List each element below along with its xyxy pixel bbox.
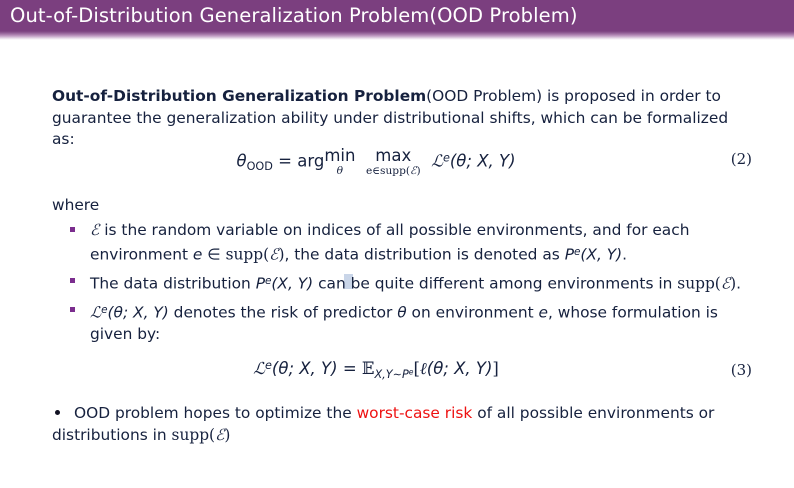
equation-number-2: (2) bbox=[731, 150, 752, 168]
bullet-text: The data distribution bbox=[90, 274, 256, 292]
intro-bold-term: Out-of-Distribution Generalization Probl… bbox=[52, 87, 426, 105]
ell-symbol: ℓ bbox=[420, 359, 427, 378]
theta-symbol: θ bbox=[397, 304, 406, 322]
loss-symbol: ℒ bbox=[90, 304, 101, 322]
p-symbol: P bbox=[565, 245, 574, 263]
bullet-period: . bbox=[622, 245, 627, 263]
final-bullet-prefix: OOD problem hopes to optimize the bbox=[74, 404, 357, 422]
p-symbol: P bbox=[256, 274, 265, 292]
text-cursor-highlight bbox=[344, 274, 353, 289]
page-title: Out-of-Distribution Generalization Probl… bbox=[10, 3, 578, 29]
min-operator: min bbox=[324, 148, 355, 165]
max-limit: e∈supp(ℰ) bbox=[366, 166, 421, 177]
where-label: where bbox=[52, 195, 99, 217]
script-e-symbol: ℰ bbox=[215, 426, 224, 444]
theta-subscript: OOD bbox=[247, 160, 273, 173]
supp-open: supp( bbox=[677, 274, 721, 292]
loss-superscript: e bbox=[443, 152, 450, 165]
arg-operator: arg bbox=[297, 152, 324, 171]
supp-close: ) bbox=[224, 426, 230, 444]
expectation-symbol: 𝔼 bbox=[362, 359, 375, 378]
equation-risk-body: ℒe(θ; X, Y) = 𝔼X,Y∼Pe[ℓ(θ; X, Y)] bbox=[52, 359, 700, 381]
bullet-text-cont: can be quite different among environment… bbox=[313, 274, 677, 292]
equals-sign: = bbox=[343, 359, 357, 378]
p-arguments: (X, Y) bbox=[580, 245, 622, 263]
title-bar-gradient-fade bbox=[0, 31, 794, 40]
bullet-text: denotes the risk of predictor bbox=[169, 304, 397, 322]
equation-ood-body: θOOD = argminθ maxe∈supp(ℰ) ℒe(θ; X, Y) bbox=[52, 148, 700, 176]
script-e-symbol: ℰ bbox=[721, 274, 730, 292]
max-operator: max bbox=[366, 148, 421, 165]
min-limit: θ bbox=[324, 166, 355, 177]
worst-case-risk-highlight: worst-case risk bbox=[357, 404, 473, 422]
max-limit-prefix: e∈supp( bbox=[366, 165, 410, 177]
bullet-text-cont: on environment bbox=[407, 304, 539, 322]
bullet-list: ℰ is the random variable on indices of a… bbox=[68, 220, 758, 346]
list-item: ℒe(θ; X, Y) denotes the risk of predicto… bbox=[68, 300, 758, 346]
bracket-close: ] bbox=[492, 359, 498, 378]
intro-paragraph: Out-of-Distribution Generalization Probl… bbox=[52, 86, 742, 151]
theta-symbol: θ bbox=[236, 152, 246, 171]
list-item: The data distribution Pe(X, Y) can be qu… bbox=[68, 271, 758, 295]
bullet-square-icon bbox=[70, 307, 75, 312]
element-of-sign: ∈ bbox=[202, 245, 225, 263]
loss-arguments: (θ; X, Y) bbox=[108, 304, 169, 322]
p-arguments: (X, Y) bbox=[271, 274, 313, 292]
expectation-subscript: X,Y∼Pe bbox=[374, 368, 413, 381]
script-e-symbol: ℰ bbox=[90, 221, 99, 239]
loss-symbol: ℒ bbox=[431, 152, 443, 171]
equation-risk-row: ℒe(θ; X, Y) = 𝔼X,Y∼Pe[ℓ(θ; X, Y)] (3) bbox=[52, 359, 752, 397]
slide-content: Out-of-Distribution Generalization Probl… bbox=[0, 44, 794, 488]
loss-symbol: ℒ bbox=[253, 359, 265, 378]
equation-number-3: (3) bbox=[731, 361, 752, 379]
bullet-text-cont: , the data distribution is denoted as bbox=[284, 245, 564, 263]
list-item: ℰ is the random variable on indices of a… bbox=[68, 220, 758, 266]
p-symbol: P bbox=[402, 368, 409, 381]
loss-arguments: (θ; X, Y) bbox=[450, 152, 516, 171]
bullet-square-icon bbox=[70, 278, 75, 283]
min-operator-with-limit: minθ bbox=[324, 148, 355, 176]
e-variable: e bbox=[539, 304, 548, 322]
e-variable: e bbox=[193, 245, 202, 263]
supp-open: supp( bbox=[226, 245, 270, 263]
distributed-as-sign: ∼ bbox=[393, 368, 402, 381]
equation-ood-row: θOOD = argminθ maxe∈supp(ℰ) ℒe(θ; X, Y) … bbox=[52, 148, 752, 186]
expectation-vars: X,Y bbox=[374, 368, 392, 381]
equals-sign: = bbox=[278, 152, 292, 171]
bullet-period: . bbox=[736, 274, 741, 292]
ell-arguments: (θ; X, Y) bbox=[427, 359, 493, 378]
max-operator-with-limit: maxe∈supp(ℰ) bbox=[366, 148, 421, 176]
loss-arguments: (θ; X, Y) bbox=[272, 359, 338, 378]
bullet-disc-icon bbox=[55, 410, 60, 415]
bullet-square-icon bbox=[70, 227, 75, 232]
loss-superscript: e bbox=[265, 359, 272, 372]
supp-open: supp( bbox=[172, 426, 216, 444]
max-limit-suffix: ) bbox=[416, 165, 420, 177]
final-bullet-item: OOD problem hopes to optimize the worst-… bbox=[52, 402, 752, 446]
